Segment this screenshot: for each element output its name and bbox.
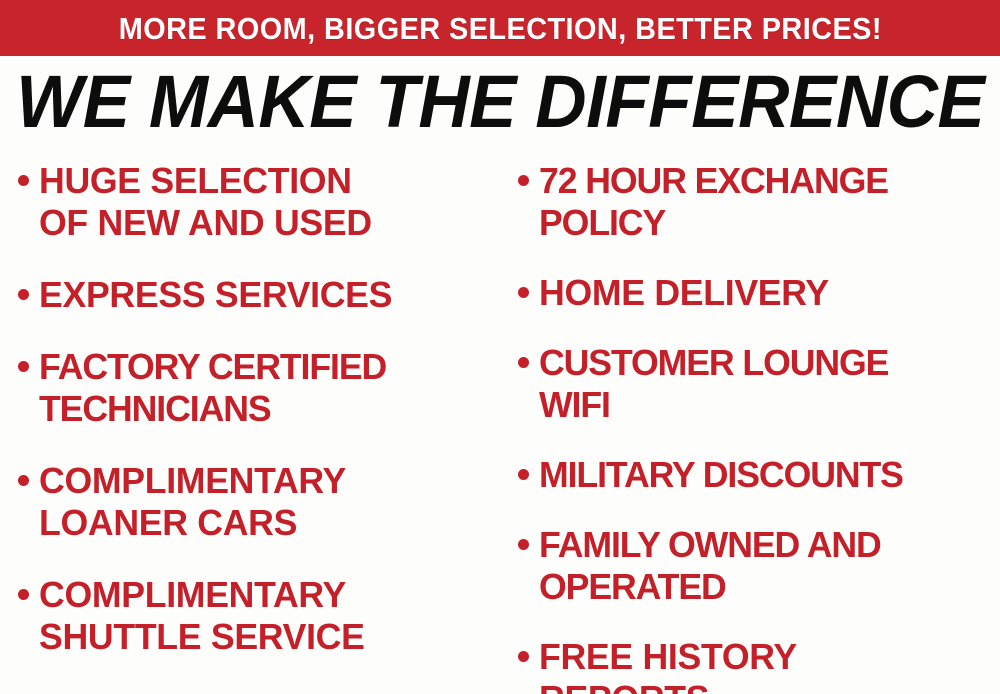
- list-item: MILITARY DISCOUNTS: [518, 454, 1000, 496]
- list-item-label: 72 HOUR EXCHANGE POLICY: [539, 160, 888, 244]
- bullet-dot-icon: [518, 357, 529, 368]
- banner-headline-text: MORE ROOM, BIGGER SELECTION, BETTER PRIC…: [118, 13, 881, 44]
- list-item-label: COMPLIMENTARY SHUTTLE SERVICE: [39, 574, 365, 658]
- top-banner: MORE ROOM, BIGGER SELECTION, BETTER PRIC…: [0, 0, 1000, 56]
- bullet-dot-icon: [18, 475, 29, 486]
- list-item-label: FACTORY CERTIFIED TECHNICIANS: [39, 346, 386, 430]
- features-column-right: 72 HOUR EXCHANGE POLICY HOME DELIVERY CU…: [500, 160, 1000, 694]
- features-column-left: HUGE SELECTION OF NEW AND USED EXPRESS S…: [0, 160, 500, 688]
- list-item: FREE HISTORY REPORTS: [518, 636, 1000, 694]
- advertisement-poster: MORE ROOM, BIGGER SELECTION, BETTER PRIC…: [0, 0, 1000, 694]
- bullet-dot-icon: [18, 289, 29, 300]
- list-item-label: HOME DELIVERY: [539, 272, 829, 314]
- list-item: HOME DELIVERY: [518, 272, 1000, 314]
- list-item: CUSTOMER LOUNGE WIFI: [518, 342, 1000, 426]
- list-item: COMPLIMENTARY LOANER CARS: [18, 460, 500, 544]
- list-item: FACTORY CERTIFIED TECHNICIANS: [18, 346, 500, 430]
- list-item-label: CUSTOMER LOUNGE WIFI: [539, 342, 888, 426]
- list-item: FAMILY OWNED AND OPERATED: [518, 524, 1000, 608]
- bullet-dot-icon: [18, 175, 29, 186]
- list-item: EXPRESS SERVICES: [18, 274, 500, 316]
- bullet-dot-icon: [18, 361, 29, 372]
- list-item: COMPLIMENTARY SHUTTLE SERVICE: [18, 574, 500, 658]
- bullet-dot-icon: [518, 539, 529, 550]
- bullet-dot-icon: [518, 651, 529, 662]
- list-item-label: COMPLIMENTARY LOANER CARS: [39, 460, 346, 544]
- list-item: 72 HOUR EXCHANGE POLICY: [518, 160, 1000, 244]
- list-item: HUGE SELECTION OF NEW AND USED: [18, 160, 500, 244]
- features-columns: HUGE SELECTION OF NEW AND USED EXPRESS S…: [0, 160, 1000, 694]
- main-headline-container: WE MAKE THE DIFFERENCE: [0, 62, 1000, 142]
- list-item-label: EXPRESS SERVICES: [39, 274, 392, 316]
- list-item-label: HUGE SELECTION OF NEW AND USED: [39, 160, 372, 244]
- main-headline-text: WE MAKE THE DIFFERENCE: [16, 65, 984, 139]
- bullet-dot-icon: [18, 589, 29, 600]
- list-item-label: MILITARY DISCOUNTS: [539, 454, 903, 496]
- list-item-label: FAMILY OWNED AND OPERATED: [539, 524, 881, 608]
- bullet-dot-icon: [518, 469, 529, 480]
- list-item-label: FREE HISTORY REPORTS: [539, 636, 797, 694]
- bullet-dot-icon: [518, 287, 529, 298]
- bullet-dot-icon: [518, 175, 529, 186]
